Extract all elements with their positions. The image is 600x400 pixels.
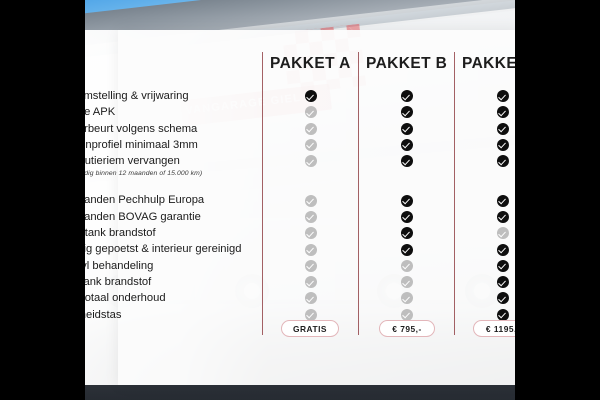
check-included-icon [497,309,509,321]
check-cell [492,192,514,208]
feature-label: Distributieriem vervangen [53,153,268,169]
check-included-icon [497,123,509,135]
check-included-icon [401,106,413,118]
feature-label: Volledig gepoetst & interieur gereinigd [53,241,268,257]
check-cell-spacer [492,169,514,179]
check-cell [396,258,418,274]
check-cell-spacer [492,179,514,192]
check-column-pakket-b [396,88,418,323]
check-cell [300,104,322,120]
check-included-icon [497,211,509,223]
check-included-icon [497,155,509,167]
check-cell [396,274,418,290]
check-cell [300,290,322,306]
check-cell [492,241,514,257]
check-cell [300,225,322,241]
check-cell-spacer [300,179,322,192]
price-button-pakket-a[interactable]: GRATIS [281,320,339,337]
check-excluded-icon [401,292,413,304]
check-cell [492,209,514,225]
check-included-icon [401,244,413,256]
feature-label: Waxoyl behandeling [53,258,268,274]
check-included-icon [401,123,413,135]
check-included-icon [401,90,413,102]
check-cell-spacer [396,179,418,192]
check-excluded-icon [305,106,317,118]
check-cell [300,274,322,290]
letterbox-bar-left [0,0,85,400]
check-excluded-icon [305,195,317,207]
check-included-icon [401,155,413,167]
check-included-icon [401,227,413,239]
check-cell [396,137,418,153]
check-excluded-icon [305,292,317,304]
check-cell [396,192,418,208]
check-cell [300,153,322,169]
letterbox-bar-right [515,0,600,400]
check-cell [396,225,418,241]
check-cell [396,241,418,257]
check-included-icon [305,90,317,102]
check-excluded-icon [305,155,317,167]
price-button-pakket-b[interactable]: € 795,- [379,320,435,337]
feature-label: Volle tank brandstof [53,274,268,290]
column-header-pakket-a: PAKKET A [270,55,351,73]
package-comparison-table: PAKKET A PAKKET B PAKKET C Tenaamstellin… [0,0,600,400]
column-divider-b-c [454,52,455,335]
check-excluded-icon [305,260,317,272]
feature-fineprint: (Indien nodig binnen 12 maanden of 15.00… [53,169,268,179]
feature-label: 12 maanden Pechhulp Europa [53,192,268,208]
feature-label: Tenaamstelling & vrijwaring [53,88,268,104]
check-cell [492,137,514,153]
check-cell [396,290,418,306]
check-excluded-icon [305,227,317,239]
column-divider-a-b [358,52,359,335]
check-excluded-icon [305,211,317,223]
check-excluded-icon [305,123,317,135]
check-included-icon [497,106,509,118]
check-included-icon [401,139,413,151]
check-cell [492,121,514,137]
check-cell [396,104,418,120]
check-included-icon [497,139,509,151]
check-included-icon [497,244,509,256]
check-column-pakket-c [492,88,514,323]
check-cell-spacer [300,169,322,179]
check-cell [396,121,418,137]
feature-label-list: Tenaamstelling & vrijwaringNieuwe APKAfl… [53,88,268,323]
table-header-row: PAKKET A PAKKET B PAKKET C [262,55,552,79]
check-cell [492,290,514,306]
feature-group-gap [53,179,268,192]
check-cell [300,121,322,137]
feature-label: Nieuwe APK [53,104,268,120]
check-cell [396,209,418,225]
column-header-pakket-b: PAKKET B [366,55,447,73]
check-cell [492,274,514,290]
check-cell [300,241,322,257]
check-cell [492,258,514,274]
check-included-icon [497,195,509,207]
check-cell [300,192,322,208]
check-excluded-icon [401,276,413,288]
check-excluded-icon [305,139,317,151]
check-excluded-icon [497,227,509,239]
check-cell [300,137,322,153]
check-cell [492,88,514,104]
check-cell [492,225,514,241]
feature-label: Bandenprofiel minimaal 3mm [53,137,268,153]
check-excluded-icon [305,276,317,288]
check-column-pakket-a [300,88,322,323]
check-included-icon [497,90,509,102]
feature-label: Halve tank brandstof [53,225,268,241]
check-included-icon [497,260,509,272]
feature-label: Veiligheidstas [53,307,268,323]
check-cell [492,153,514,169]
feature-label: Afleverbeurt volgens schema [53,121,268,137]
check-included-icon [401,211,413,223]
check-cell [492,104,514,120]
feature-label: 12 maanden BOVAG garantie [53,209,268,225]
check-cell [396,88,418,104]
check-cell [300,258,322,274]
check-cell [300,209,322,225]
check-cell [396,153,418,169]
check-excluded-icon [305,244,317,256]
screenshot-stage: VANGARAGE GIEL PAKKET A PAKKET B PAKKET … [0,0,600,400]
check-included-icon [401,195,413,207]
check-included-icon [497,276,509,288]
check-excluded-icon [401,260,413,272]
check-excluded-icon [305,309,317,321]
feature-label: Airco totaal onderhoud [53,290,268,306]
check-cell [300,88,322,104]
check-excluded-icon [401,309,413,321]
check-included-icon [497,292,509,304]
check-cell-spacer [396,169,418,179]
